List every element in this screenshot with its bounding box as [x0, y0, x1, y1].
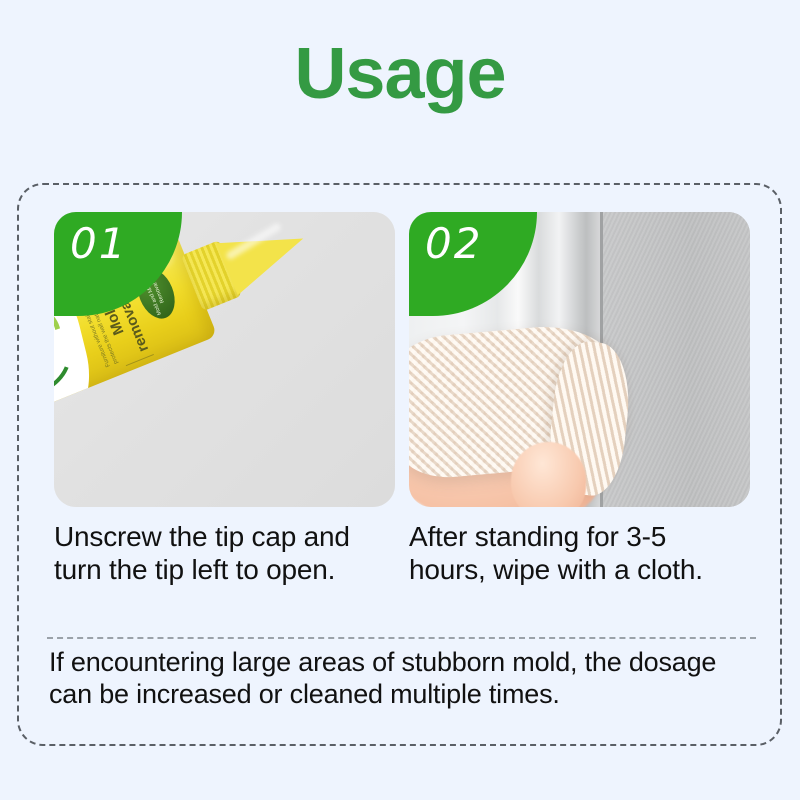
step-01-photo: kitchen Furniture without stains protect… — [54, 212, 395, 507]
page-title: Usage — [0, 38, 800, 110]
door-frame-panel — [603, 212, 750, 507]
note-divider — [47, 637, 756, 639]
step-01-number: 01 — [70, 223, 127, 265]
usage-note: If encountering large areas of stubborn … — [49, 646, 759, 710]
step-02-photo: 02 — [409, 212, 750, 507]
step-01: kitchen Furniture without stains protect… — [54, 212, 395, 586]
step-02-number: 02 — [425, 223, 482, 265]
step-02-caption: After standing for 3-5 hours, wipe with … — [409, 520, 750, 586]
usage-panel: kitchen Furniture without stains protect… — [17, 183, 782, 746]
step-01-caption: Unscrew the tip cap and turn the tip lef… — [54, 520, 395, 586]
steps-row: kitchen Furniture without stains protect… — [54, 212, 749, 586]
step-02: 02 After standing for 3-5 hours, wipe wi… — [409, 212, 750, 586]
